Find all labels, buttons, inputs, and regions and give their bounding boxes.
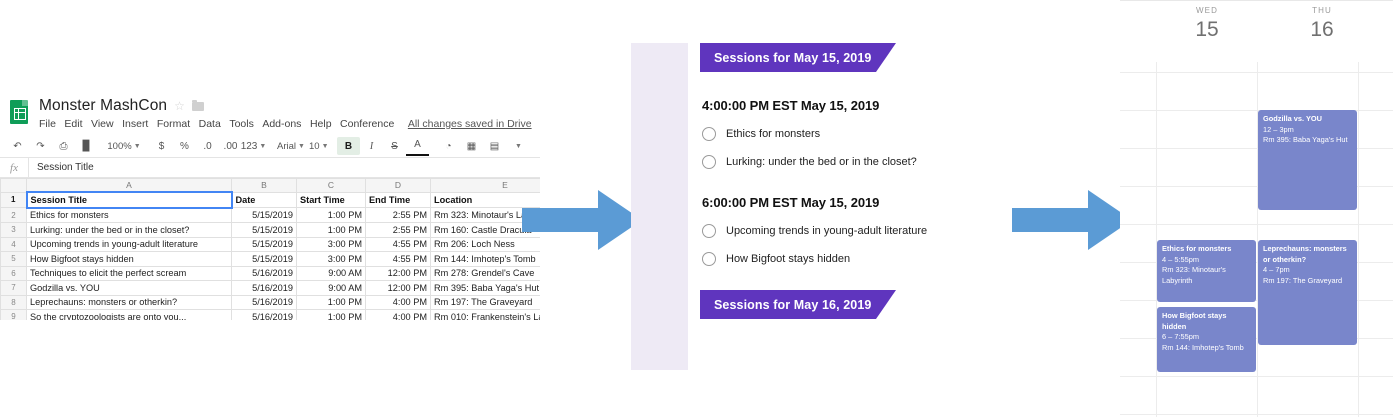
menu-conference[interactable]: Conference: [340, 118, 394, 130]
cell-location[interactable]: Rm 197: The Graveyard: [431, 295, 541, 310]
event-time: 4 – 7pm: [1263, 265, 1352, 276]
formula-bar: fx Session Title: [0, 158, 540, 178]
cell-d1[interactable]: End Time: [366, 192, 431, 208]
fx-icon: fx: [0, 162, 28, 174]
cell-location[interactable]: Rm 278: Grendel's Cave: [431, 266, 541, 281]
option-label: How Bigfoot stays hidden: [726, 253, 850, 265]
text-color-button[interactable]: A: [406, 136, 429, 156]
event-location: Rm 144: Imhotep's Tomb: [1162, 343, 1251, 354]
cell-date[interactable]: 5/15/2019: [232, 252, 297, 267]
radio-icon[interactable]: [702, 155, 716, 169]
event-time: 6 – 7:55pm: [1162, 332, 1251, 343]
chevron-down-icon: ▼: [322, 143, 329, 150]
cell-date[interactable]: 5/16/2019: [232, 281, 297, 296]
radio-icon[interactable]: [702, 252, 716, 266]
day-number: 16: [1272, 18, 1372, 42]
table-row[interactable]: 8Leprechauns: monsters or otherkin?5/16/…: [1, 295, 541, 310]
strikethrough-button[interactable]: S: [383, 137, 406, 155]
table-row[interactable]: 7Godzilla vs. YOU5/16/20199:00 AM12:00 P…: [1, 281, 541, 296]
calendar-hline: [1120, 72, 1393, 73]
cell-c1[interactable]: Start Time: [297, 192, 366, 208]
cell-date[interactable]: 5/15/2019: [232, 237, 297, 252]
event-title: How Bigfoot stays hidden: [1162, 311, 1251, 332]
slot-time: 4:00:00 PM EST May 15, 2019: [702, 98, 911, 113]
row-number[interactable]: 7: [1, 281, 27, 296]
calendar-event[interactable]: Leprechauns: monsters or otherkin?4 – 7p…: [1258, 240, 1357, 345]
spreadsheet-titlebar: Monster MashCon ☆ File Edit View Insert …: [0, 90, 540, 130]
row-number[interactable]: 6: [1, 266, 27, 281]
borders-icon[interactable]: ▦: [460, 137, 483, 155]
cell-end[interactable]: 4:00 PM: [366, 295, 431, 310]
calendar-hline: [1120, 224, 1393, 225]
event-time: 4 – 5:55pm: [1162, 255, 1251, 266]
option-label: Upcoming trends in young-adult literatur…: [726, 225, 927, 237]
option-label: Ethics for monsters: [726, 128, 820, 140]
cell-end[interactable]: 2:55 PM: [366, 223, 431, 238]
menu-format[interactable]: Format: [157, 118, 190, 130]
banner-label: Sessions for May 15, 2019: [714, 43, 871, 72]
cell-date[interactable]: 5/16/2019: [232, 266, 297, 281]
cell-start[interactable]: 1:00 PM: [297, 295, 366, 310]
table-row[interactable]: 6Techniques to elicit the perfect scream…: [1, 266, 541, 281]
cell-start[interactable]: 9:00 AM: [297, 281, 366, 296]
day-of-week-label: WED: [1157, 6, 1257, 15]
folder-icon[interactable]: [192, 102, 204, 111]
row-number[interactable]: 2: [1, 208, 27, 223]
cell-title[interactable]: Techniques to elicit the perfect scream: [27, 266, 232, 281]
cell-start[interactable]: 3:00 PM: [297, 252, 366, 267]
menu-insert[interactable]: Insert: [122, 118, 148, 130]
session-option[interactable]: Ethics for monsters: [702, 127, 911, 141]
arrow-shaft: [522, 208, 600, 232]
increase-decimal-button[interactable]: .00: [219, 137, 242, 155]
cell-start[interactable]: 1:00 PM: [297, 223, 366, 238]
document-title-row: Monster MashCon ☆: [39, 97, 532, 115]
spreadsheet-toolbar: ↶ ↷ ⎙ ▉ 100% ▼ $ % .0 .00 123 ▼ Arial ▼ …: [0, 135, 540, 158]
menu-tools[interactable]: Tools: [229, 118, 254, 130]
session-slot-1: 4:00:00 PM EST May 15, 2019 Ethics for m…: [702, 98, 911, 169]
chevron-down-icon: ▼: [259, 143, 266, 150]
spreadsheet-panel: Monster MashCon ☆ File Edit View Insert …: [0, 90, 540, 320]
chevron-down-icon: ▼: [134, 143, 141, 150]
cell-date[interactable]: 5/15/2019: [232, 223, 297, 238]
event-title: Ethics for monsters: [1162, 244, 1251, 255]
column-header-d[interactable]: D: [366, 179, 431, 193]
slot-time: 6:00:00 PM EST May 15, 2019: [702, 195, 911, 210]
table-row[interactable]: 5How Bigfoot stays hidden5/15/20193:00 P…: [1, 252, 541, 267]
banner-label: Sessions for May 16, 2019: [714, 290, 871, 319]
cell-date[interactable]: 5/16/2019: [232, 310, 297, 321]
spreadsheet-body: 1 Session Title Date Start Time End Time…: [1, 192, 541, 320]
font-select[interactable]: Arial ▼: [273, 137, 298, 155]
day-number: 15: [1157, 18, 1257, 42]
event-location: Rm 323: Minotaur's Labyrinth: [1162, 265, 1251, 286]
font-size-select[interactable]: 10 ▼: [306, 137, 329, 155]
undo-icon[interactable]: ↶: [6, 137, 29, 155]
column-header-b[interactable]: B: [232, 179, 297, 193]
sessions-form-panel: Sessions for May 15, 2019 4:00:00 PM EST…: [631, 43, 911, 370]
merge-cells-icon[interactable]: ▤: [483, 137, 506, 155]
calendar-grid: Godzilla vs. YOU12 – 3pmRm 395: Baba Yag…: [1120, 62, 1393, 417]
cell-title[interactable]: So the cryptozoologists are onto you...: [27, 310, 232, 321]
cell-title[interactable]: Lurking: under the bed or in the closet?: [27, 223, 232, 238]
menu-bar: File Edit View Insert Format Data Tools …: [39, 118, 532, 130]
session-option[interactable]: Lurking: under the bed or in the closet?: [702, 155, 911, 169]
row-number[interactable]: 9: [1, 310, 27, 321]
menu-file[interactable]: File: [39, 118, 56, 130]
cell-title[interactable]: Upcoming trends in young-adult literatur…: [27, 237, 232, 252]
option-label: Lurking: under the bed or in the closet?: [726, 156, 917, 168]
session-option[interactable]: Upcoming trends in young-adult literatur…: [702, 224, 911, 238]
calendar-day-header-wed[interactable]: WED 15: [1157, 6, 1257, 42]
more-formats-label: 123: [241, 141, 258, 152]
flow-arrow-2-icon: [1012, 190, 1132, 250]
save-status[interactable]: All changes saved in Drive: [408, 118, 532, 130]
menu-data[interactable]: Data: [199, 118, 221, 130]
calendar-event[interactable]: How Bigfoot stays hidden6 – 7:55pmRm 144…: [1157, 307, 1256, 372]
menu-view[interactable]: View: [91, 118, 114, 130]
cell-location[interactable]: Rm 395: Baba Yaga's Hut: [431, 281, 541, 296]
table-row[interactable]: 2Ethics for monsters5/15/20191:00 PM2:55…: [1, 208, 541, 223]
cell-title[interactable]: Godzilla vs. YOU: [27, 281, 232, 296]
cell-end[interactable]: 12:00 PM: [366, 281, 431, 296]
currency-format-button[interactable]: $: [150, 137, 173, 155]
cell-end[interactable]: 12:00 PM: [366, 266, 431, 281]
table-row[interactable]: 4Upcoming trends in young-adult literatu…: [1, 237, 541, 252]
cell-title[interactable]: Ethics for monsters: [27, 208, 232, 223]
banner-tip: [876, 290, 896, 319]
row-number[interactable]: 3: [1, 223, 27, 238]
cell-start[interactable]: 9:00 AM: [297, 266, 366, 281]
event-time: 12 – 3pm: [1263, 125, 1352, 136]
row-number[interactable]: 8: [1, 295, 27, 310]
table-row[interactable]: 9So the cryptozoologists are onto you...…: [1, 310, 541, 321]
sessions-banner-may-16: Sessions for May 16, 2019: [700, 290, 896, 319]
session-slot-2: 6:00:00 PM EST May 15, 2019 Upcoming tre…: [702, 195, 911, 266]
arrow-shaft: [1012, 208, 1090, 232]
star-icon[interactable]: ☆: [174, 97, 185, 115]
sessions-banner-may-15: Sessions for May 15, 2019: [700, 43, 896, 72]
cell-a1[interactable]: Session Title: [27, 192, 232, 208]
day-of-week-label: THU: [1272, 6, 1372, 15]
cell-location[interactable]: Rm 144: Imhotep's Tomb: [431, 252, 541, 267]
row-number[interactable]: 5: [1, 252, 27, 267]
formula-input[interactable]: Session Title: [28, 158, 540, 177]
cell-start[interactable]: 3:00 PM: [297, 237, 366, 252]
chevron-down-icon: ▼: [298, 143, 305, 150]
align-left-icon[interactable]: ☰: [537, 137, 540, 155]
zoom-value: 100%: [107, 141, 131, 152]
calendar-hline: [1120, 414, 1393, 415]
calendar-event[interactable]: Ethics for monsters4 – 5:55pmRm 323: Min…: [1157, 240, 1256, 302]
column-header-a[interactable]: A: [27, 179, 232, 193]
bold-button[interactable]: B: [337, 137, 360, 155]
font-size-value: 10: [309, 141, 320, 152]
row-number[interactable]: 4: [1, 237, 27, 252]
table-row[interactable]: 3Lurking: under the bed or in the closet…: [1, 223, 541, 238]
row-number[interactable]: 1: [1, 192, 27, 208]
column-header-row: A B C D E: [1, 179, 541, 193]
cell-b1[interactable]: Date: [232, 192, 297, 208]
session-option[interactable]: How Bigfoot stays hidden: [702, 252, 911, 266]
cell-start[interactable]: 1:00 PM: [297, 208, 366, 223]
cell-location[interactable]: Rm 010: Frankenstein's Laboratory: [431, 310, 541, 321]
calendar-panel: WED 15 THU 16 Godzilla vs. YOU12 – 3pmRm…: [1120, 0, 1393, 417]
event-location: Rm 395: Baba Yaga's Hut: [1263, 135, 1352, 146]
flow-arrow-1-icon: [522, 190, 642, 250]
cell-end[interactable]: 4:55 PM: [366, 237, 431, 252]
calendar-day-header-thu[interactable]: THU 16: [1272, 6, 1372, 42]
calendar-vline: [1358, 62, 1359, 417]
print-icon[interactable]: ⎙: [52, 137, 75, 155]
calendar-hline: [1120, 376, 1393, 377]
zoom-select[interactable]: 100% ▼: [106, 137, 142, 155]
redo-icon[interactable]: ↷: [29, 137, 52, 155]
italic-button[interactable]: I: [360, 137, 383, 155]
spreadsheet-grid: A B C D E 1 Session Title Date Start Tim…: [0, 178, 540, 320]
event-location: Rm 197: The Graveyard: [1263, 276, 1352, 287]
cell-title[interactable]: How Bigfoot stays hidden: [27, 252, 232, 267]
column-header-c[interactable]: C: [297, 179, 366, 193]
table-row[interactable]: 1 Session Title Date Start Time End Time…: [1, 192, 541, 208]
cell-date[interactable]: 5/15/2019: [232, 208, 297, 223]
banner-tip: [876, 43, 896, 72]
decrease-decimal-button[interactable]: .0: [196, 137, 219, 155]
fill-color-icon[interactable]: ◔: [437, 137, 460, 155]
cell-end[interactable]: 4:00 PM: [366, 310, 431, 321]
menu-help[interactable]: Help: [310, 118, 332, 130]
font-value: Arial: [277, 141, 296, 152]
corner-select-all[interactable]: [1, 179, 27, 193]
form-side-strip: [631, 43, 688, 370]
cell-start[interactable]: 1:00 PM: [297, 310, 366, 321]
sheets-logo-icon: [8, 100, 30, 126]
calendar-event[interactable]: Godzilla vs. YOU12 – 3pmRm 395: Baba Yag…: [1258, 110, 1357, 210]
radio-icon[interactable]: [702, 224, 716, 238]
chevron-down-icon[interactable]: ▼: [506, 137, 529, 155]
more-formats-button[interactable]: 123 ▼: [242, 137, 265, 155]
paint-format-icon[interactable]: ▉: [75, 137, 98, 155]
cell-title[interactable]: Leprechauns: monsters or otherkin?: [27, 295, 232, 310]
percent-format-button[interactable]: %: [173, 137, 196, 155]
event-title: Leprechauns: monsters or otherkin?: [1263, 244, 1352, 265]
cell-date[interactable]: 5/16/2019: [232, 295, 297, 310]
cell-end[interactable]: 2:55 PM: [366, 208, 431, 223]
menu-edit[interactable]: Edit: [64, 118, 82, 130]
cell-end[interactable]: 4:55 PM: [366, 252, 431, 267]
calendar-top-divider: [1120, 0, 1393, 1]
event-title: Godzilla vs. YOU: [1263, 114, 1352, 125]
document-title[interactable]: Monster MashCon: [39, 97, 167, 115]
radio-icon[interactable]: [702, 127, 716, 141]
menu-addons[interactable]: Add-ons: [262, 118, 301, 130]
